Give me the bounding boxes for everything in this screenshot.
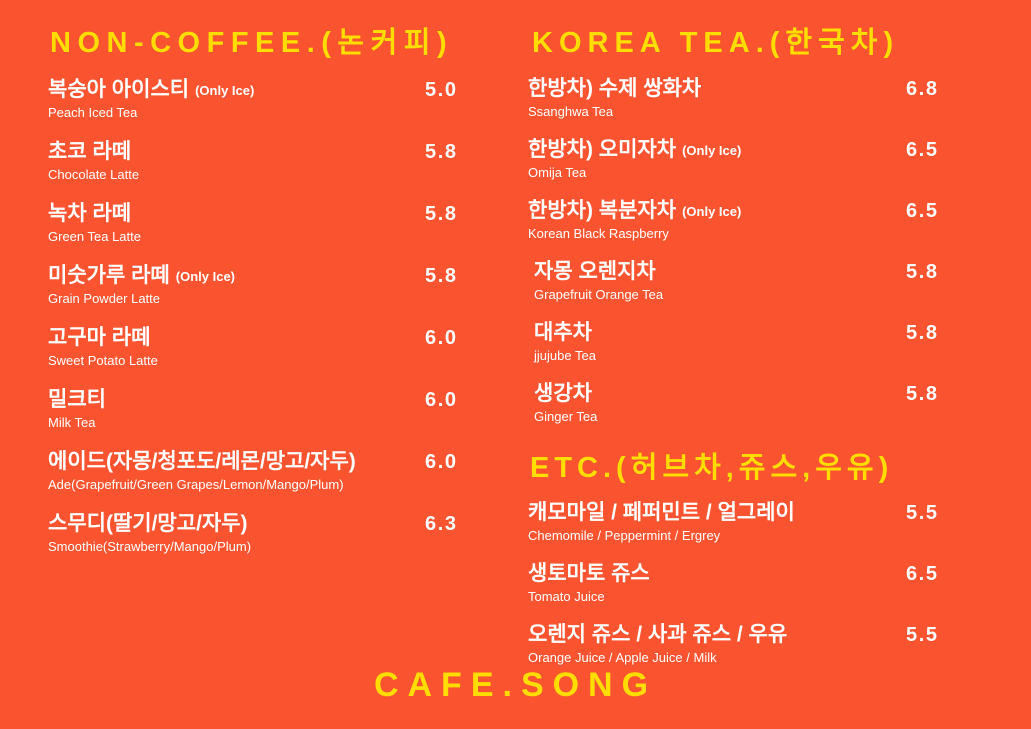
menu-item-price: 5.8: [425, 141, 458, 164]
menu-item: 녹차 라떼 Green Tea Latte 5.8: [48, 202, 520, 245]
menu-item-price: 6.5: [906, 563, 939, 586]
menu-item-subtitle: Ssanghwa Tea: [528, 104, 1031, 120]
menu-item-header: 오렌지 쥬스 / 사과 쥬스 / 우유: [528, 623, 1031, 648]
menu-item-header: 대추차: [534, 321, 1031, 346]
menu-item-header: 생강차: [534, 382, 1031, 407]
menu-item: 오렌지 쥬스 / 사과 쥬스 / 우유 Orange Juice / Apple…: [528, 623, 1031, 666]
menu-item: 초코 라떼 Chocolate Latte 5.8: [48, 140, 520, 183]
menu-item-price: 5.8: [906, 261, 939, 284]
menu-item-subtitle: Smoothie(Strawberry/Mango/Plum): [48, 539, 520, 555]
menu-item-subtitle: Grapefruit Orange Tea: [534, 287, 1031, 303]
section-korea-tea: KOREA TEA.(한국차) 한방차) 수제 쌍화차 Ssanghwa Tea…: [528, 28, 1031, 425]
menu-item: 생강차 Ginger Tea 5.8: [528, 382, 1031, 425]
menu-item-subtitle: Milk Tea: [48, 415, 520, 431]
menu-item-subtitle: Omija Tea: [528, 165, 1031, 181]
menu-item-subtitle: Tomato Juice: [528, 589, 1031, 605]
menu-item: 에이드(자몽/청포도/레몬/망고/자두) Ade(Grapefruit/Gree…: [48, 450, 520, 493]
menu-item-subtitle: Sweet Potato Latte: [48, 353, 520, 369]
non-coffee-item-list: 복숭아 아이스티 (Only Ice) Peach Iced Tea 5.0 초…: [48, 78, 520, 555]
menu-item-subtitle: Peach Iced Tea: [48, 105, 520, 121]
menu-column-left: NON-COFFEE.(논커피) 복숭아 아이스티 (Only Ice) Pea…: [0, 0, 520, 574]
menu-item-header: 한방차) 수제 쌍화차: [528, 77, 1031, 102]
menu-item-note: (Only Ice): [682, 143, 741, 158]
menu-item-name: 초코 라떼: [48, 140, 131, 165]
section-etc: ETC.(허브차,쥬스,우유) 캐모마일 / 페퍼민트 / 얼그레이 Chemo…: [528, 453, 1031, 666]
menu-item-name: 밀크티: [48, 388, 106, 413]
menu-item: 미숫가루 라떼 (Only Ice) Grain Powder Latte 5.…: [48, 264, 520, 307]
menu-item: 한방차) 복분자차 (Only Ice) Korean Black Raspbe…: [528, 199, 1031, 242]
section-heading-etc: ETC.(허브차,쥬스,우유): [530, 453, 1031, 485]
menu-item-name: 복숭아 아이스티: [48, 78, 189, 103]
menu-item-subtitle: Ade(Grapefruit/Green Grapes/Lemon/Mango/…: [48, 477, 520, 493]
menu-item-name: 에이드(자몽/청포도/레몬/망고/자두): [48, 450, 356, 475]
menu-item: 복숭아 아이스티 (Only Ice) Peach Iced Tea 5.0: [48, 78, 520, 121]
menu-item-price: 6.3: [425, 513, 458, 536]
menu-item-name: 생강차: [534, 382, 592, 407]
menu-item-note: (Only Ice): [682, 204, 741, 219]
menu-item-subtitle: Chemomile / Peppermint / Ergrey: [528, 528, 1031, 544]
menu-item-price: 5.5: [906, 624, 939, 647]
menu-board: NON-COFFEE.(논커피) 복숭아 아이스티 (Only Ice) Pea…: [0, 0, 1031, 729]
menu-item-note: (Only Ice): [176, 269, 235, 284]
menu-item-note: (Only Ice): [195, 83, 254, 98]
menu-item-name: 캐모마일 / 페퍼민트 / 얼그레이: [528, 501, 795, 526]
section-heading-non-coffee: NON-COFFEE.(논커피): [50, 28, 520, 60]
menu-item-name: 녹차 라떼: [48, 202, 131, 227]
etc-item-list: 캐모마일 / 페퍼민트 / 얼그레이 Chemomile / Peppermin…: [528, 501, 1031, 666]
menu-item-price: 5.0: [425, 79, 458, 102]
menu-item-name: 한방차) 오미자차: [528, 138, 676, 163]
korea-tea-item-list: 한방차) 수제 쌍화차 Ssanghwa Tea 6.8 한방차) 오미자차 (…: [528, 77, 1031, 425]
menu-item-name: 미숫가루 라떼: [48, 264, 170, 289]
menu-item-name: 오렌지 쥬스 / 사과 쥬스 / 우유: [528, 623, 787, 648]
menu-columns: NON-COFFEE.(논커피) 복숭아 아이스티 (Only Ice) Pea…: [0, 0, 1031, 655]
menu-item: 자몽 오렌지차 Grapefruit Orange Tea 5.8: [528, 260, 1031, 303]
menu-item: 고구마 라떼 Sweet Potato Latte 6.0: [48, 326, 520, 369]
menu-item-price: 5.5: [906, 502, 939, 525]
menu-item-name: 대추차: [534, 321, 592, 346]
menu-item-price: 6.5: [906, 200, 939, 223]
menu-item-price: 6.8: [906, 78, 939, 101]
menu-item-header: 한방차) 복분자차 (Only Ice): [528, 199, 1031, 224]
menu-item-price: 6.0: [425, 451, 458, 474]
menu-item: 캐모마일 / 페퍼민트 / 얼그레이 Chemomile / Peppermin…: [528, 501, 1031, 544]
menu-item-name: 생토마토 쥬스: [528, 562, 650, 587]
section-non-coffee: NON-COFFEE.(논커피) 복숭아 아이스티 (Only Ice) Pea…: [48, 28, 520, 555]
menu-item: 생토마토 쥬스 Tomato Juice 6.5: [528, 562, 1031, 605]
menu-item: 대추차 jjujube Tea 5.8: [528, 321, 1031, 364]
menu-item-name: 한방차) 수제 쌍화차: [528, 77, 701, 102]
menu-item: 스무디(딸기/망고/자두) Smoothie(Strawberry/Mango/…: [48, 512, 520, 555]
menu-item: 한방차) 오미자차 (Only Ice) Omija Tea 6.5: [528, 138, 1031, 181]
menu-item-price: 5.8: [425, 203, 458, 226]
brand-footer: CAFE.SONG: [0, 666, 1031, 705]
menu-item-price: 6.0: [425, 327, 458, 350]
menu-item-header: 자몽 오렌지차: [534, 260, 1031, 285]
section-heading-korea-tea: KOREA TEA.(한국차): [532, 28, 1031, 60]
menu-item-name: 고구마 라떼: [48, 326, 150, 351]
menu-item-subtitle: Korean Black Raspberry: [528, 226, 1031, 242]
menu-item-price: 5.8: [906, 383, 939, 406]
menu-item: 밀크티 Milk Tea 6.0: [48, 388, 520, 431]
menu-item-price: 5.8: [425, 265, 458, 288]
menu-column-right: KOREA TEA.(한국차) 한방차) 수제 쌍화차 Ssanghwa Tea…: [520, 0, 1031, 684]
menu-item-price: 6.5: [906, 139, 939, 162]
menu-item-subtitle: Orange Juice / Apple Juice / Milk: [528, 650, 1031, 666]
menu-item-header: 생토마토 쥬스: [528, 562, 1031, 587]
menu-item-header: 캐모마일 / 페퍼민트 / 얼그레이: [528, 501, 1031, 526]
menu-item-name: 한방차) 복분자차: [528, 199, 676, 224]
menu-item-subtitle: Green Tea Latte: [48, 229, 520, 245]
menu-item: 한방차) 수제 쌍화차 Ssanghwa Tea 6.8: [528, 77, 1031, 120]
brand-logo: CAFE.SONG: [374, 666, 657, 704]
menu-item-subtitle: Ginger Tea: [534, 409, 1031, 425]
menu-item-subtitle: Grain Powder Latte: [48, 291, 520, 307]
menu-item-subtitle: Chocolate Latte: [48, 167, 520, 183]
menu-item-name: 자몽 오렌지차: [534, 260, 656, 285]
menu-item-subtitle: jjujube Tea: [534, 348, 1031, 364]
menu-item-name: 스무디(딸기/망고/자두): [48, 512, 248, 537]
menu-item-price: 5.8: [906, 322, 939, 345]
menu-item-header: 한방차) 오미자차 (Only Ice): [528, 138, 1031, 163]
menu-item-price: 6.0: [425, 389, 458, 412]
